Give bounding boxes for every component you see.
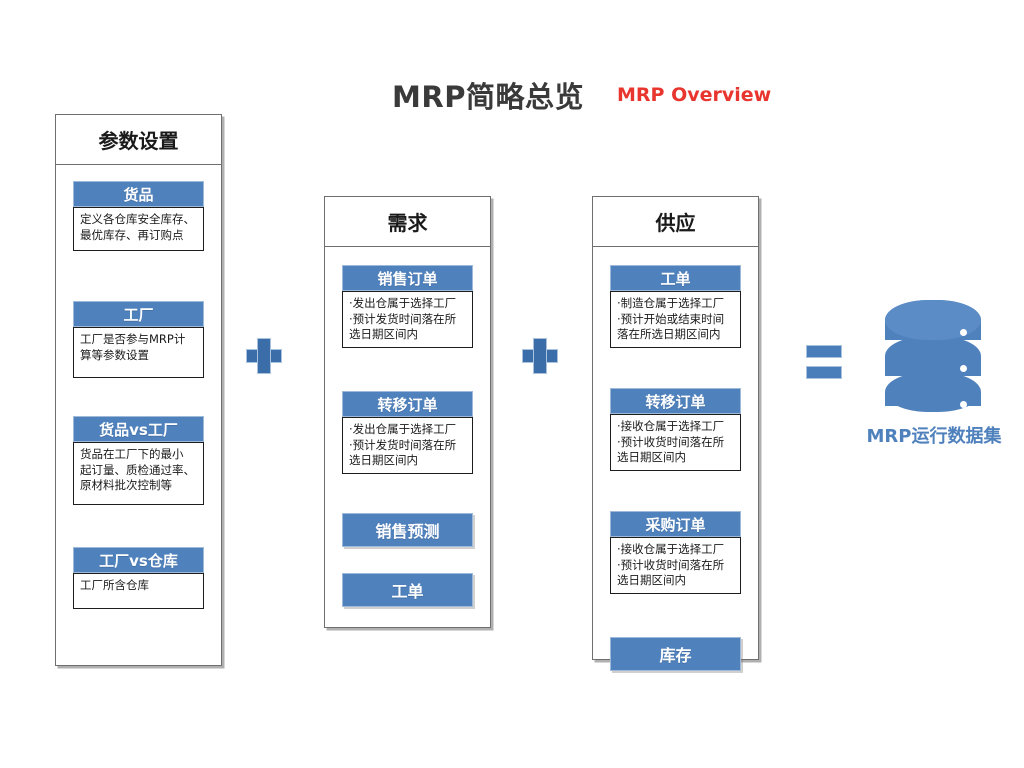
card-body-work-order-supply: ·制造仓属于选择工厂 ·预计开始或结束时间 落在所选日期区间内 bbox=[610, 291, 741, 348]
column-demand: 需求 销售订单 ·发出仓属于选择工厂 ·预计发货时间落在所 选日期区间内 转移订… bbox=[324, 196, 491, 628]
card-inventory[interactable]: 库存 bbox=[610, 637, 741, 671]
card-factory-vs-warehouse[interactable]: 工厂vs仓库 工厂所含仓库 bbox=[73, 547, 204, 609]
db-indicator-dot-3 bbox=[960, 401, 967, 408]
equals-bar-bottom bbox=[806, 366, 842, 379]
plus-bar-vertical bbox=[533, 338, 547, 374]
card-body-factory-vs-warehouse: 工厂所含仓库 bbox=[73, 573, 204, 609]
card-title-work-order-demand: 工单 bbox=[342, 573, 473, 607]
card-sales-order[interactable]: 销售订单 ·发出仓属于选择工厂 ·预计发货时间落在所 选日期区间内 bbox=[342, 265, 473, 348]
column-header-supply: 供应 bbox=[593, 197, 758, 247]
card-work-order-supply[interactable]: 工单 ·制造仓属于选择工厂 ·预计开始或结束时间 落在所选日期区间内 bbox=[610, 265, 741, 348]
card-body-sales-order: ·发出仓属于选择工厂 ·预计发货时间落在所 选日期区间内 bbox=[342, 291, 473, 348]
page-subtitle: MRP Overview bbox=[617, 84, 771, 106]
column-header-demand: 需求 bbox=[325, 197, 490, 247]
card-title-inventory: 库存 bbox=[610, 637, 741, 671]
database-icon bbox=[885, 300, 981, 422]
card-title-goods: 货品 bbox=[73, 181, 204, 207]
plus-icon-1 bbox=[246, 338, 282, 374]
card-body-transfer-order-supply: ·接收仓属于选择工厂 ·预计收货时间落在所 选日期区间内 bbox=[610, 414, 741, 471]
card-title-factory: 工厂 bbox=[73, 301, 204, 327]
equals-bar-top bbox=[806, 345, 842, 358]
page-title: MRP简略总览 bbox=[392, 74, 584, 116]
card-body-purchase-order: ·接收仓属于选择工厂 ·预计收货时间落在所 选日期区间内 bbox=[610, 537, 741, 594]
db-indicator-dot-1 bbox=[960, 329, 967, 336]
card-goods[interactable]: 货品 定义各仓库安全库存、 最优库存、再订购点 bbox=[73, 181, 204, 251]
column-parameters: 参数设置 货品 定义各仓库安全库存、 最优库存、再订购点 工厂 工厂是否参与MR… bbox=[55, 114, 222, 666]
card-work-order-demand[interactable]: 工单 bbox=[342, 573, 473, 607]
card-body-goods-vs-factory: 货品在工厂下的最小 起订量、质检通过率、 原材料批次控制等 bbox=[73, 442, 204, 505]
column-supply: 供应 工单 ·制造仓属于选择工厂 ·预计开始或结束时间 落在所选日期区间内 转移… bbox=[592, 196, 759, 660]
card-title-sales-forecast: 销售预测 bbox=[342, 513, 473, 547]
card-factory[interactable]: 工厂 工厂是否参与MRP计 算等参数设置 bbox=[73, 301, 204, 378]
result-label: MRP运行数据集 bbox=[848, 422, 1020, 448]
card-goods-vs-factory[interactable]: 货品vs工厂 货品在工厂下的最小 起订量、质检通过率、 原材料批次控制等 bbox=[73, 416, 204, 505]
plus-icon-2 bbox=[522, 338, 558, 374]
card-body-transfer-order: ·发出仓属于选择工厂 ·预计发货时间落在所 选日期区间内 bbox=[342, 417, 473, 474]
card-transfer-order[interactable]: 转移订单 ·发出仓属于选择工厂 ·预计发货时间落在所 选日期区间内 bbox=[342, 391, 473, 474]
column-header-parameters: 参数设置 bbox=[56, 115, 221, 165]
equals-icon bbox=[806, 345, 842, 379]
card-title-sales-order: 销售订单 bbox=[342, 265, 473, 291]
db-indicator-dot-2 bbox=[960, 365, 967, 372]
card-title-transfer-order: 转移订单 bbox=[342, 391, 473, 417]
card-sales-forecast[interactable]: 销售预测 bbox=[342, 513, 473, 547]
card-title-purchase-order: 采购订单 bbox=[610, 511, 741, 537]
card-transfer-order-supply[interactable]: 转移订单 ·接收仓属于选择工厂 ·预计收货时间落在所 选日期区间内 bbox=[610, 388, 741, 471]
card-body-factory: 工厂是否参与MRP计 算等参数设置 bbox=[73, 327, 204, 378]
card-title-work-order-supply: 工单 bbox=[610, 265, 741, 291]
card-purchase-order[interactable]: 采购订单 ·接收仓属于选择工厂 ·预计收货时间落在所 选日期区间内 bbox=[610, 511, 741, 594]
diagram-canvas: MRP简略总览 MRP Overview 参数设置 货品 定义各仓库安全库存、 … bbox=[0, 0, 1024, 768]
card-title-goods-vs-factory: 货品vs工厂 bbox=[73, 416, 204, 442]
card-body-goods: 定义各仓库安全库存、 最优库存、再订购点 bbox=[73, 207, 204, 251]
plus-bar-vertical bbox=[257, 338, 271, 374]
card-title-transfer-order-supply: 转移订单 bbox=[610, 388, 741, 414]
card-title-factory-vs-warehouse: 工厂vs仓库 bbox=[73, 547, 204, 573]
